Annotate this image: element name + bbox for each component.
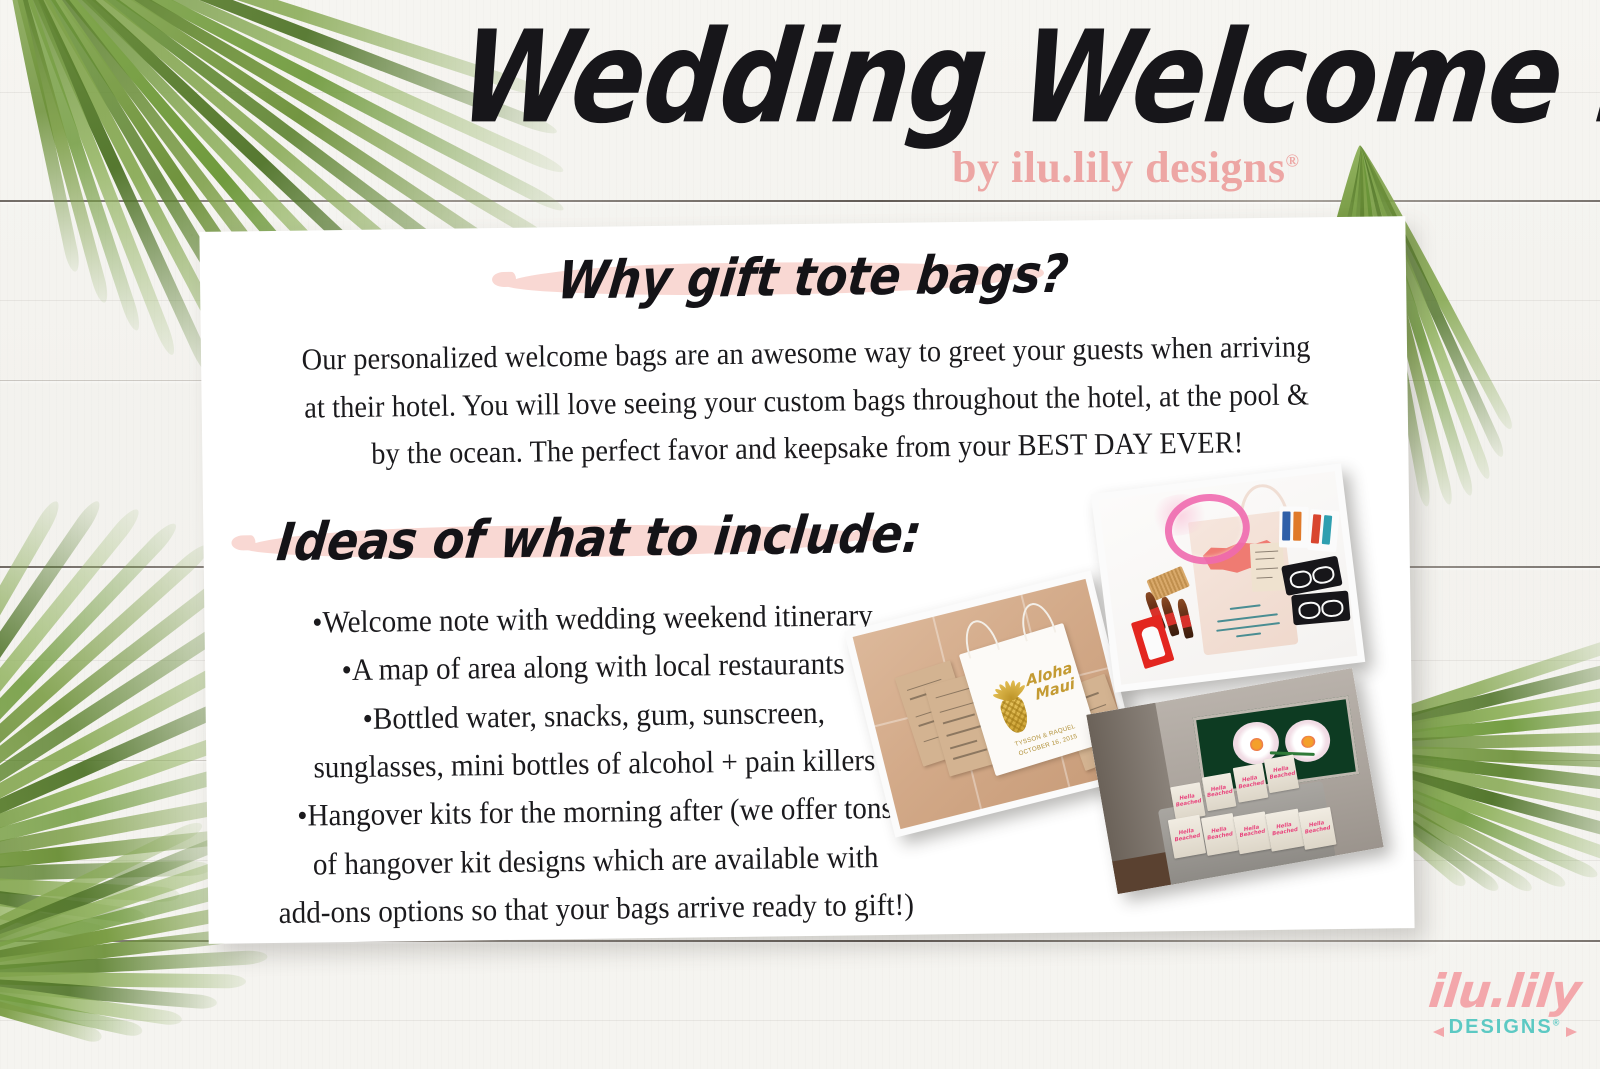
tote-aloha-script: Aloha Maui: [1025, 660, 1077, 715]
sunglasses-pouch: [1291, 591, 1350, 626]
list-item: •Hangover kits for the morning after (we…: [247, 784, 943, 841]
poster-canvas: Wedding Welcome Bags by ilu.lily designs…: [0, 0, 1600, 1069]
tag-text-line: [1255, 558, 1274, 560]
tote-teal-script: [1210, 600, 1286, 643]
gift-bag: HellaBeached: [1170, 782, 1205, 821]
photo-flat-lay-welcome-bag: [1091, 463, 1365, 692]
sticker-sheet: [1279, 506, 1308, 547]
gift-bag: HellaBeached: [1298, 807, 1337, 850]
logo-subtitle: DESIGNS®: [1449, 1016, 1562, 1039]
leaf-ornament-right-icon: [1566, 1027, 1577, 1037]
brand-logo[interactable]: ilu.lily DESIGNS®: [1420, 968, 1590, 1060]
sticker-sheet: [1307, 509, 1339, 552]
logo-registered-mark: ®: [1553, 1017, 1562, 1027]
gift-bag: HellaBeached: [1264, 754, 1299, 793]
leaf-ornament-left-icon: [1433, 1027, 1444, 1037]
script-line: [1217, 613, 1278, 622]
logo-sub-text: DESIGNS: [1449, 1016, 1553, 1038]
byline: by ilu.lily designs®: [952, 146, 1299, 190]
why-paragraph: Our personalized welcome bags are an awe…: [299, 323, 1314, 479]
sticker: [1311, 514, 1321, 543]
list-item: •A map of area along with local restaura…: [245, 639, 941, 696]
card-text-line: [947, 724, 986, 736]
ideas-list: •Welcome note with wedding weekend itine…: [244, 590, 944, 938]
card-text-line: [943, 714, 975, 724]
list-item: add-ons options so that your bags arrive…: [248, 880, 944, 937]
tag-text-line: [1255, 551, 1278, 553]
gift-bag: HellaBeached: [1233, 763, 1268, 802]
logo-script-text: ilu.lily: [1427, 968, 1583, 1014]
tag-text-line: [1256, 568, 1278, 570]
card-text-line: [950, 740, 977, 749]
ideas-heading-text: Ideas of what to include:: [274, 503, 925, 573]
tag-text-line: [1256, 577, 1272, 579]
header-block: Wedding Welcome Bags by ilu.lily designs…: [0, 0, 1600, 218]
script-line: [1217, 622, 1280, 632]
sticker: [1293, 511, 1301, 540]
sticker: [1283, 511, 1291, 540]
script-line: [1236, 633, 1261, 638]
script-line: [1230, 604, 1260, 610]
card-text-line: [953, 749, 987, 760]
sunglasses-pouch: [1281, 555, 1343, 595]
ideas-heading: Ideas of what to include:: [239, 505, 880, 577]
sticker: [1322, 515, 1332, 544]
gift-bag: HellaBeached: [1202, 773, 1237, 812]
registered-mark: ®: [1286, 150, 1300, 170]
card-text-line: [936, 688, 971, 699]
byline-text: by ilu.lily designs: [952, 143, 1286, 192]
welcome-tag: [1250, 543, 1286, 593]
why-heading: Why gift tote bags?: [500, 245, 1021, 314]
flat-lay-surface: [1099, 471, 1358, 685]
page-title: Wedding Welcome Bags: [454, 14, 1568, 144]
why-heading-text: Why gift tote bags?: [555, 243, 1072, 311]
